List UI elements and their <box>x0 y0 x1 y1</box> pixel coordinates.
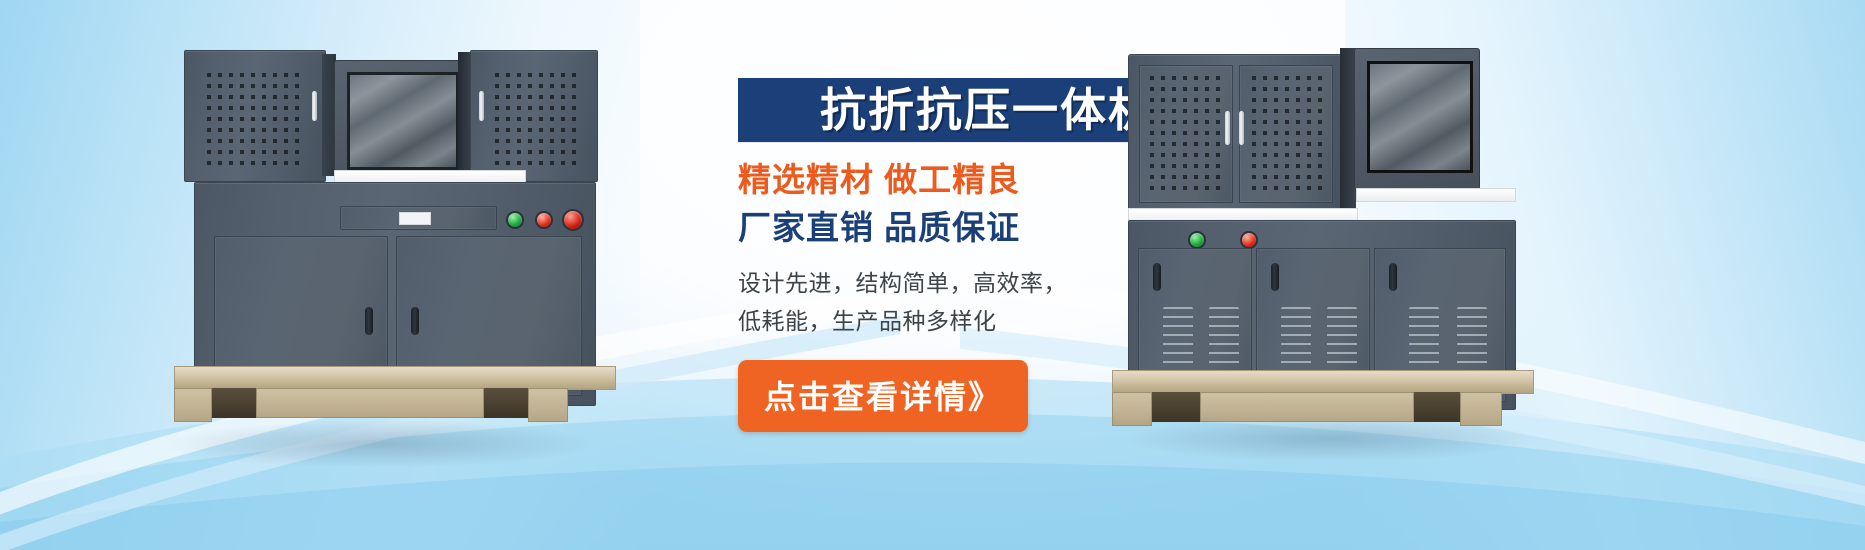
monitor-screen <box>1367 61 1473 173</box>
perforation-pattern-icon <box>495 69 581 165</box>
monitor-screen <box>347 72 459 170</box>
perforation-pattern-icon <box>1252 76 1322 190</box>
drawer-label <box>399 212 431 225</box>
green-indicator[interactable] <box>1188 231 1206 249</box>
right-perforated-cabinet <box>470 50 598 182</box>
pallet-gap <box>208 388 258 418</box>
red-indicator[interactable] <box>535 211 553 229</box>
door-handle[interactable] <box>411 307 419 335</box>
door-handle[interactable] <box>365 307 373 335</box>
cabinet-handle <box>312 91 317 121</box>
product-left-shadow <box>160 420 600 468</box>
white-trim-strip <box>1356 188 1516 202</box>
pallet-gap <box>1410 392 1462 422</box>
emergency-stop-button[interactable] <box>562 209 584 231</box>
door-handle[interactable] <box>1153 263 1161 291</box>
cabinet-handle[interactable] <box>1239 111 1244 145</box>
green-indicator[interactable] <box>506 211 524 229</box>
pallet-foot <box>528 388 568 422</box>
view-details-button[interactable]: 点击查看详情》 <box>738 360 1028 432</box>
pallet-foot <box>174 388 212 422</box>
upper-door-left[interactable] <box>1139 65 1233 203</box>
side-monitor <box>1354 48 1480 190</box>
perforation-pattern-icon <box>207 69 299 165</box>
wooden-pallet <box>1112 370 1534 394</box>
cabinet-handle <box>479 91 484 121</box>
left-perforated-cabinet <box>184 50 326 182</box>
upper-perforated-doors <box>1128 54 1342 214</box>
pallet-gap <box>480 388 530 418</box>
perforation-pattern-icon <box>1150 76 1220 190</box>
pallet-gap <box>1150 392 1202 422</box>
pallet-foot <box>256 388 484 418</box>
cabinet-handle[interactable] <box>1225 111 1230 145</box>
center-monitor <box>334 60 466 180</box>
upper-door-right[interactable] <box>1239 65 1333 203</box>
promo-banner: 抗折抗压一体机 精选精材 做工精良 厂家直销 品质保证 设计先进，结构简单，高效… <box>0 0 1865 550</box>
pallet-foot <box>1460 392 1502 426</box>
wooden-pallet <box>174 366 616 390</box>
control-drawer[interactable] <box>340 206 497 230</box>
pallet-foot <box>1200 392 1414 422</box>
product-image-right <box>1110 30 1580 450</box>
product-image-left <box>150 28 610 453</box>
door-handle[interactable] <box>1271 263 1279 291</box>
red-indicator[interactable] <box>1240 231 1258 249</box>
door-handle[interactable] <box>1389 263 1397 291</box>
page-title: 抗折抗压一体机 <box>820 87 1156 133</box>
pallet-foot <box>1112 392 1152 426</box>
